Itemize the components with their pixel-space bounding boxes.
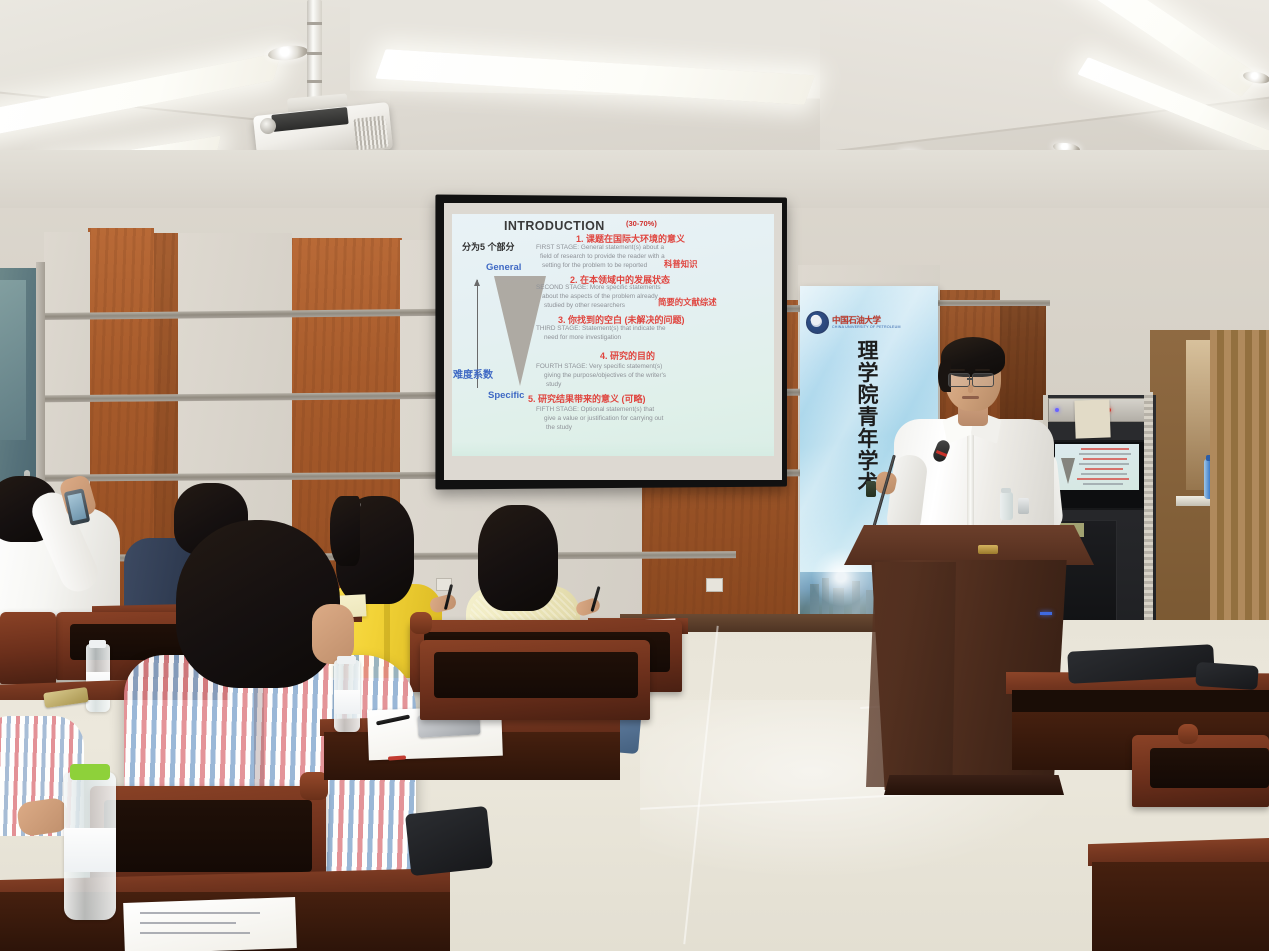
slide-title-percent: (30-70%): [626, 219, 657, 228]
slide-point-cn-inline: 简要的文献综述: [658, 296, 717, 308]
slide-point-en: studied by other researchers: [544, 302, 625, 309]
bag-under-desk: [405, 806, 493, 876]
bottle-label: [334, 690, 360, 714]
slide-point-en: the study: [546, 424, 572, 431]
slide-point-stage: THIRD STAGE: Statement(s) that indicate …: [536, 325, 666, 332]
podium-emblem-icon: [978, 545, 998, 554]
presenter-nose: [968, 385, 973, 393]
slide-point-en: setting for the problem to be reported: [542, 262, 647, 269]
slide-point-en: study: [546, 381, 561, 388]
wall-wood-panel: [1000, 300, 1046, 420]
slide-point-cn-inline: 科普知识: [664, 258, 698, 270]
handout-paper-foreground: [123, 897, 297, 951]
eyeglasses-bridge: [967, 378, 973, 380]
bottle-label: [64, 828, 116, 872]
monitor-triangle-graphic: [1061, 458, 1075, 484]
bench-upper-left-edge: [0, 612, 56, 684]
slide-point-cn: 4. 研究的目的: [600, 349, 655, 362]
presentation-clicker[interactable]: [866, 481, 876, 497]
presenter-water-bottle: [1000, 492, 1013, 520]
slide-bottom-gradient: [452, 442, 774, 456]
bottle-cap: [337, 656, 356, 664]
bench-armrest: [410, 612, 432, 634]
lecture-room-photo: INTRODUCTION (30-70%) 分为5 个部分 General 难度…: [0, 0, 1269, 951]
slide-point-stage: FIFTH STAGE: Optional statement(s) that: [536, 406, 654, 413]
desk-front-panel: [1092, 862, 1269, 951]
slide-axis-bottom-label: Specific: [488, 390, 524, 401]
bench-backrest: [434, 652, 638, 698]
black-bag-strap: [1195, 662, 1259, 690]
slide-point-cn: 5. 研究结果带来的意义 (可略): [528, 392, 646, 405]
person-striped-ear-neck: [312, 604, 354, 664]
slide-title: INTRODUCTION: [504, 219, 605, 233]
person-striped-hair: [176, 520, 340, 688]
person-partial-hair: [330, 496, 360, 566]
slide-point-en: field of research to provide the reader …: [540, 253, 665, 260]
eyeglasses-lens-right: [972, 373, 994, 387]
wall-trim: [938, 300, 1050, 306]
bottle-cap: [1001, 488, 1011, 493]
projector-mount-pole: [307, 0, 322, 100]
bottle-cap: [89, 640, 106, 648]
handwriting-line: [140, 912, 260, 914]
podium-base: [884, 775, 1064, 795]
banner-vertical-title: 理学院青年学术: [853, 340, 883, 494]
banner-university-name-en: CHINA UNIVERSITY OF PETROLEUM: [832, 325, 932, 329]
slide-point-stage: SECOND STAGE: More specific statements: [536, 284, 661, 291]
power-led-icon: [1055, 408, 1059, 412]
slide-parts-note: 分为5 个部分: [462, 240, 515, 253]
podium-led-icon: [1040, 612, 1052, 615]
rack-paper-note: [1074, 399, 1110, 438]
slide-point-en: give a value or justification for carryi…: [544, 415, 663, 422]
slide-axis-top-label: General: [486, 262, 521, 273]
podium-top-surface: [844, 525, 1094, 565]
presenter-badge: [1018, 498, 1029, 514]
person-cream-sweater-hair: [478, 505, 558, 611]
handwriting-line: [140, 922, 236, 924]
handwriting-line: [140, 932, 250, 934]
wall-outlet: [706, 578, 723, 592]
bench-armrest: [1178, 724, 1198, 744]
university-logo-inner: [811, 316, 822, 327]
slide-point-stage: FOURTH STAGE: Very specific statement(s): [536, 363, 662, 370]
slide-point-en: giving the purpose/objectives of the wri…: [544, 372, 666, 379]
slide-point-stage: FIRST STAGE: General statement(s) about …: [536, 244, 664, 251]
door-glass-panel: [0, 280, 26, 440]
podium-left-face: [866, 562, 956, 787]
bench-backrest: [104, 800, 312, 872]
bench-backrest: [1150, 748, 1269, 788]
slide-point-en: about the aspects of the problem already: [542, 293, 658, 300]
eyeglasses-lens-left: [948, 373, 970, 387]
shirt-placket: [967, 430, 974, 538]
slide-point-en: need for more investigation: [544, 334, 621, 341]
bottle-cap-green: [70, 764, 110, 780]
presenter-mouth: [962, 396, 979, 399]
slide-axis-side-label: 难度系数: [453, 366, 493, 381]
projector-vent: [353, 115, 388, 150]
projected-slide: INTRODUCTION (30-70%) 分为5 个部分 General 难度…: [452, 214, 774, 456]
confidence-monitor-screen: [1055, 444, 1139, 490]
